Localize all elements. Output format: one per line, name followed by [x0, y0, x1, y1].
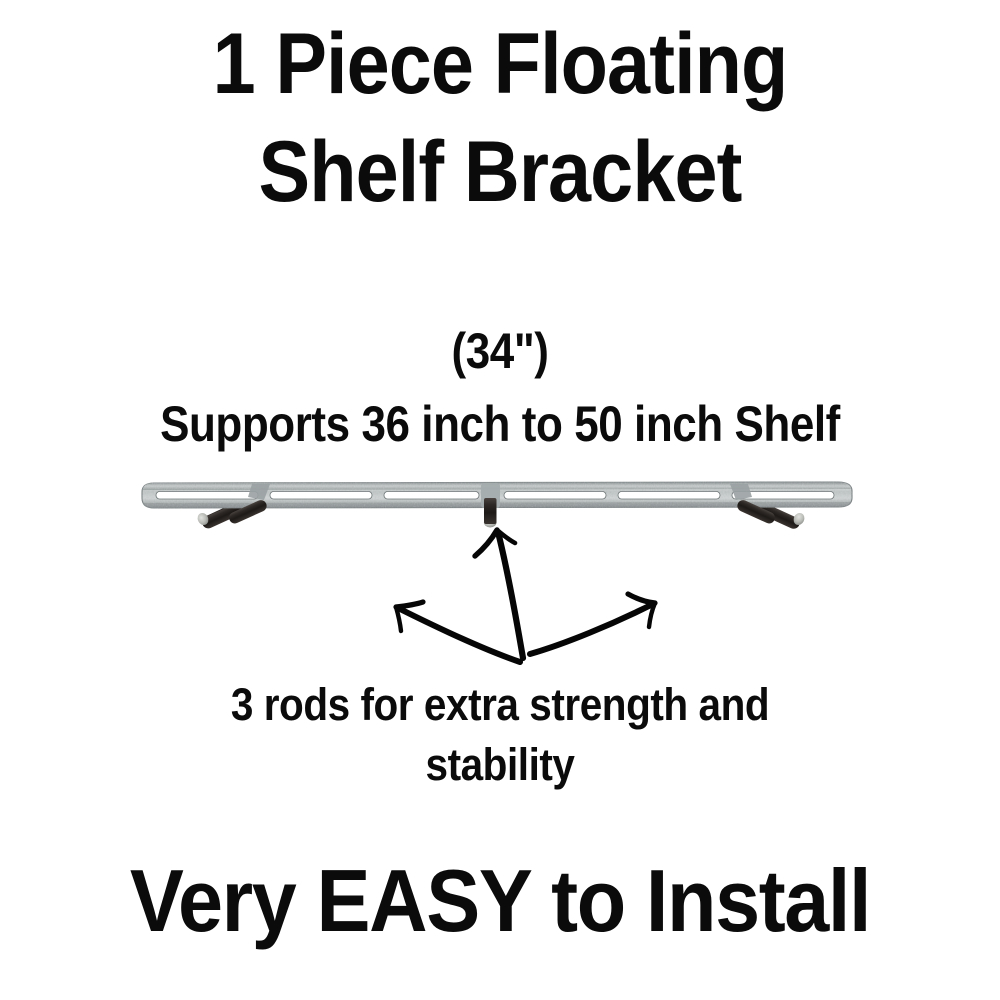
callout-label: 3 rods for extra strength and stability [50, 675, 950, 795]
supports-spec-label: Supports 36 inch to 50 inch Shelf [60, 398, 940, 450]
page-title: 1 Piece Floating Shelf Bracket [50, 10, 950, 227]
arrow-group [360, 520, 680, 680]
arrow-right [530, 594, 655, 654]
infographic-canvas: 1 Piece Floating Shelf Bracket (34") Sup… [0, 0, 1000, 1000]
callout-arrows [360, 520, 680, 680]
arrow-up-center [475, 530, 523, 658]
size-spec-label: (34") [60, 325, 940, 377]
arrow-left [396, 602, 520, 662]
footer-headline: Very EASY to Install [40, 855, 960, 947]
